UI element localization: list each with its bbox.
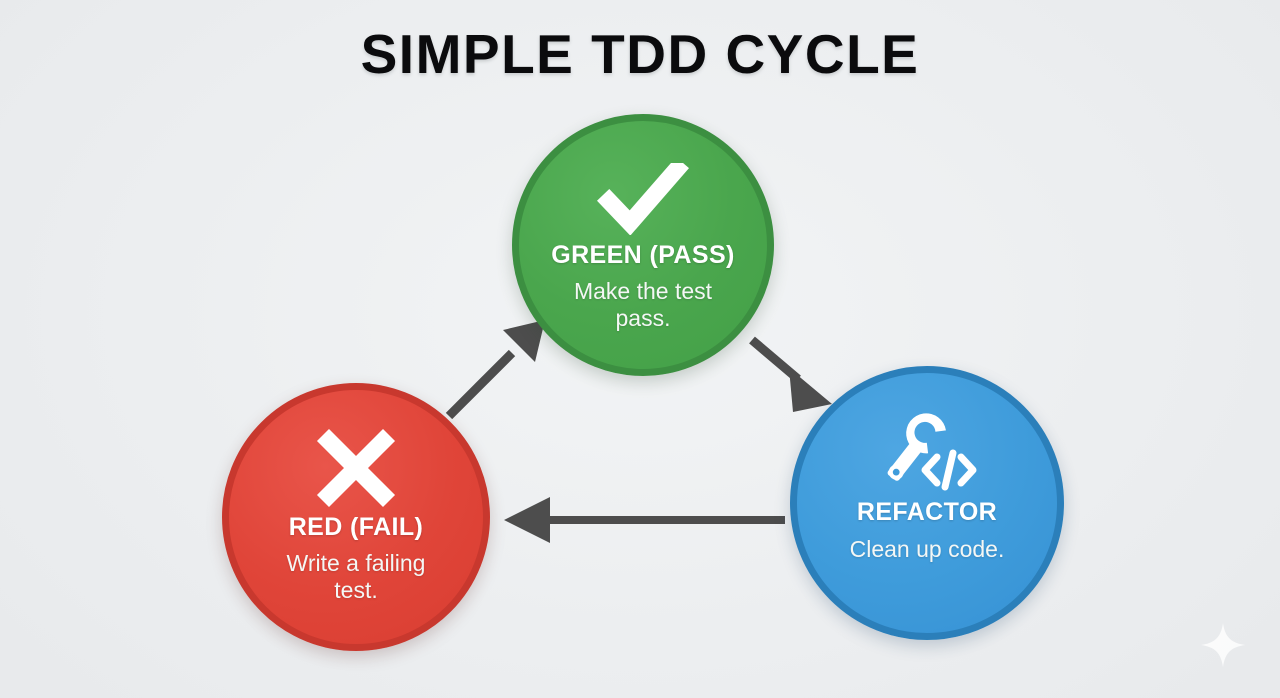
page-title: SIMPLE TDD CYCLE (0, 22, 1280, 86)
sparkle-icon (1198, 620, 1248, 670)
wrench-code-icon (797, 409, 1057, 493)
arrow-blue-to-red (504, 497, 785, 543)
node-refactor[interactable]: REFACTOR Clean up code. (790, 366, 1064, 640)
node-green-title: GREEN (PASS) (519, 241, 767, 270)
diagram-canvas: SIMPLE TDD CYCLE GREEN (PASS) Make the t… (0, 0, 1280, 698)
node-red-title: RED (FAIL) (229, 513, 483, 542)
node-blue-title: REFACTOR (797, 498, 1057, 527)
cross-icon (229, 428, 483, 508)
arrow-green-to-blue (752, 340, 832, 412)
node-red-fail[interactable]: RED (FAIL) Write a failing test. (222, 383, 490, 651)
node-blue-description: Clean up code. (797, 536, 1057, 563)
arrow-red-to-green (449, 320, 545, 416)
check-icon (519, 163, 767, 235)
node-red-description: Write a failing test. (229, 550, 483, 604)
node-green-pass[interactable]: GREEN (PASS) Make the test pass. (512, 114, 774, 376)
node-green-description: Make the test pass. (519, 278, 767, 332)
